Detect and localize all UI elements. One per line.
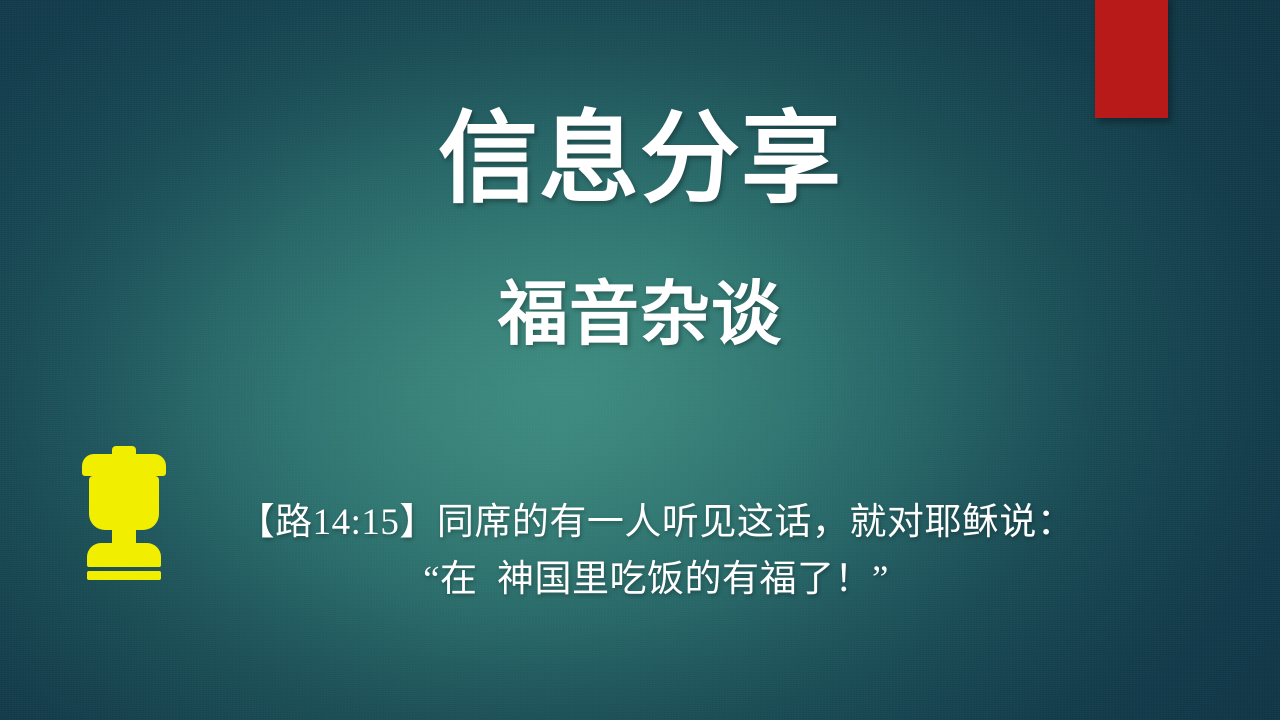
lantern-valve-dot	[119, 531, 129, 541]
slide-subtitle: 福音杂谈	[0, 275, 1280, 355]
lantern-icon	[74, 446, 174, 580]
verse-line-1: 【路14:15】同席的有一人听见这话，就对耶稣说：	[206, 494, 1106, 551]
red-accent-rectangle	[1095, 0, 1168, 118]
verse-line-2: “在 神国里吃饭的有福了！”	[206, 551, 1106, 608]
lantern-foot-bar	[87, 571, 161, 580]
presentation-slide: 信息分享 福音杂谈 【路14:15】同席的有一人听见这话，就对耶稣说： “在 神…	[0, 0, 1280, 720]
slide-title: 信息分享	[0, 103, 1280, 215]
lantern-base	[87, 543, 161, 567]
lantern-cap	[82, 454, 166, 476]
scripture-verse: 【路14:15】同席的有一人听见这话，就对耶稣说： “在 神国里吃饭的有福了！”	[206, 494, 1106, 609]
